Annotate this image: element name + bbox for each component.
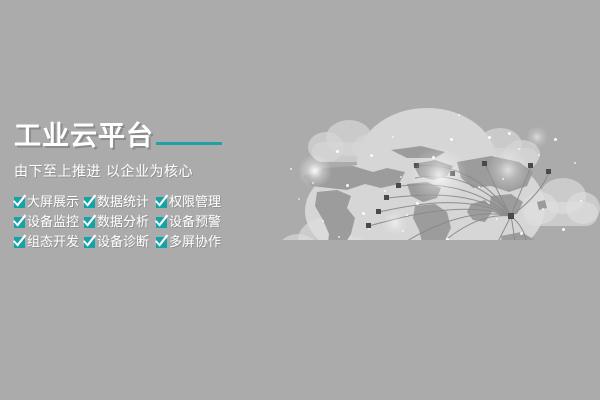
feature-label: 多屏协作 — [169, 235, 221, 250]
feature-label: 数据分析 — [97, 215, 149, 230]
feature-label: 设备预警 — [169, 215, 221, 230]
check-icon — [156, 217, 167, 228]
feature-label: 大屏展示 — [27, 195, 79, 210]
feature-list: 大屏展示 数据统计 权限管理 设备监控 数据分析 设备预警 — [14, 195, 254, 250]
glow — [526, 126, 548, 148]
page-title: 工业云平台 — [14, 122, 154, 152]
glow — [486, 148, 530, 192]
glow — [410, 146, 468, 204]
check-icon — [156, 237, 167, 248]
feature-item-5: 设备预警 — [156, 215, 254, 230]
feature-label: 数据统计 — [97, 195, 149, 210]
check-icon — [84, 217, 95, 228]
feature-item-4: 数据分析 — [84, 215, 156, 230]
feature-label: 权限管理 — [169, 195, 221, 210]
check-icon — [84, 237, 95, 248]
check-icon — [14, 217, 25, 228]
check-icon — [14, 237, 25, 248]
cloud-platform-banner: 工业云平台 由下至上推进 以企业为核心 大屏展示 数据统计 权限管理 设备监控 — [0, 0, 600, 400]
feature-item-8: 多屏协作 — [156, 235, 254, 250]
page-subtitle: 由下至上推进 以企业为核心 — [14, 161, 254, 181]
feature-label: 组态开发 — [27, 235, 79, 250]
title-row: 工业云平台 — [14, 118, 254, 152]
glow — [382, 210, 408, 236]
artwork-region — [250, 90, 600, 240]
feature-label: 设备监控 — [27, 215, 79, 230]
feature-item-6: 组态开发 — [14, 235, 84, 250]
check-icon — [84, 197, 95, 208]
glow — [298, 154, 332, 188]
feature-label: 设备诊断 — [97, 235, 149, 250]
feature-item-3: 设备监控 — [14, 215, 84, 230]
check-icon — [14, 197, 25, 208]
feature-item-1: 数据统计 — [84, 195, 156, 210]
feature-item-2: 权限管理 — [156, 195, 254, 210]
feature-item-7: 设备诊断 — [84, 235, 156, 250]
feature-item-0: 大屏展示 — [14, 195, 84, 210]
copy-block: 工业云平台 由下至上推进 以企业为核心 大屏展示 数据统计 权限管理 设备监控 — [14, 118, 254, 250]
check-icon — [156, 197, 167, 208]
title-underline-rule — [156, 142, 222, 145]
